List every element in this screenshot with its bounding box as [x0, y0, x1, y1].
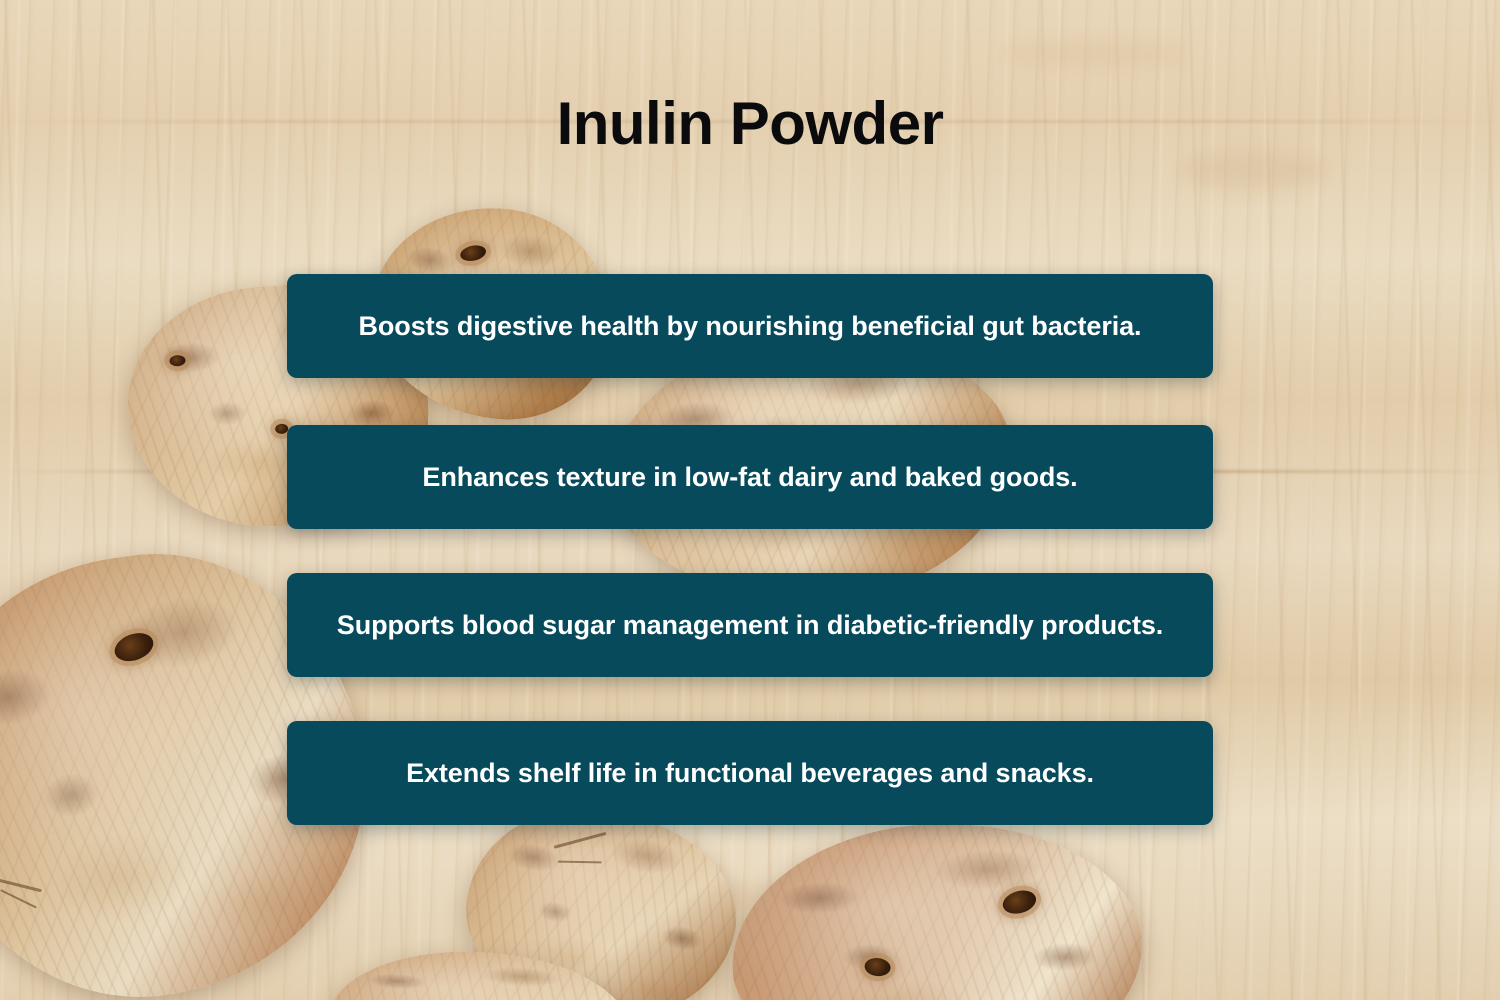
benefit-bar-blood-sugar[interactable]: Supports blood sugar management in diabe…: [287, 573, 1213, 677]
infographic-canvas: Inulin Powder Boosts digestive health by…: [0, 0, 1500, 1000]
benefit-bar-shelf-life[interactable]: Extends shelf life in functional beverag…: [287, 721, 1213, 825]
benefit-text: Extends shelf life in functional beverag…: [406, 757, 1094, 789]
benefit-text: Enhances texture in low-fat dairy and ba…: [422, 461, 1077, 493]
wood-knot: [1000, 40, 1190, 68]
benefit-text: Supports blood sugar management in diabe…: [337, 609, 1163, 641]
benefit-bar-gut-health[interactable]: Boosts digestive health by nourishing be…: [287, 274, 1213, 378]
benefit-text: Boosts digestive health by nourishing be…: [359, 310, 1142, 342]
wood-knot: [1180, 150, 1330, 190]
benefit-bar-texture[interactable]: Enhances texture in low-fat dairy and ba…: [287, 425, 1213, 529]
page-title: Inulin Powder: [0, 92, 1500, 155]
